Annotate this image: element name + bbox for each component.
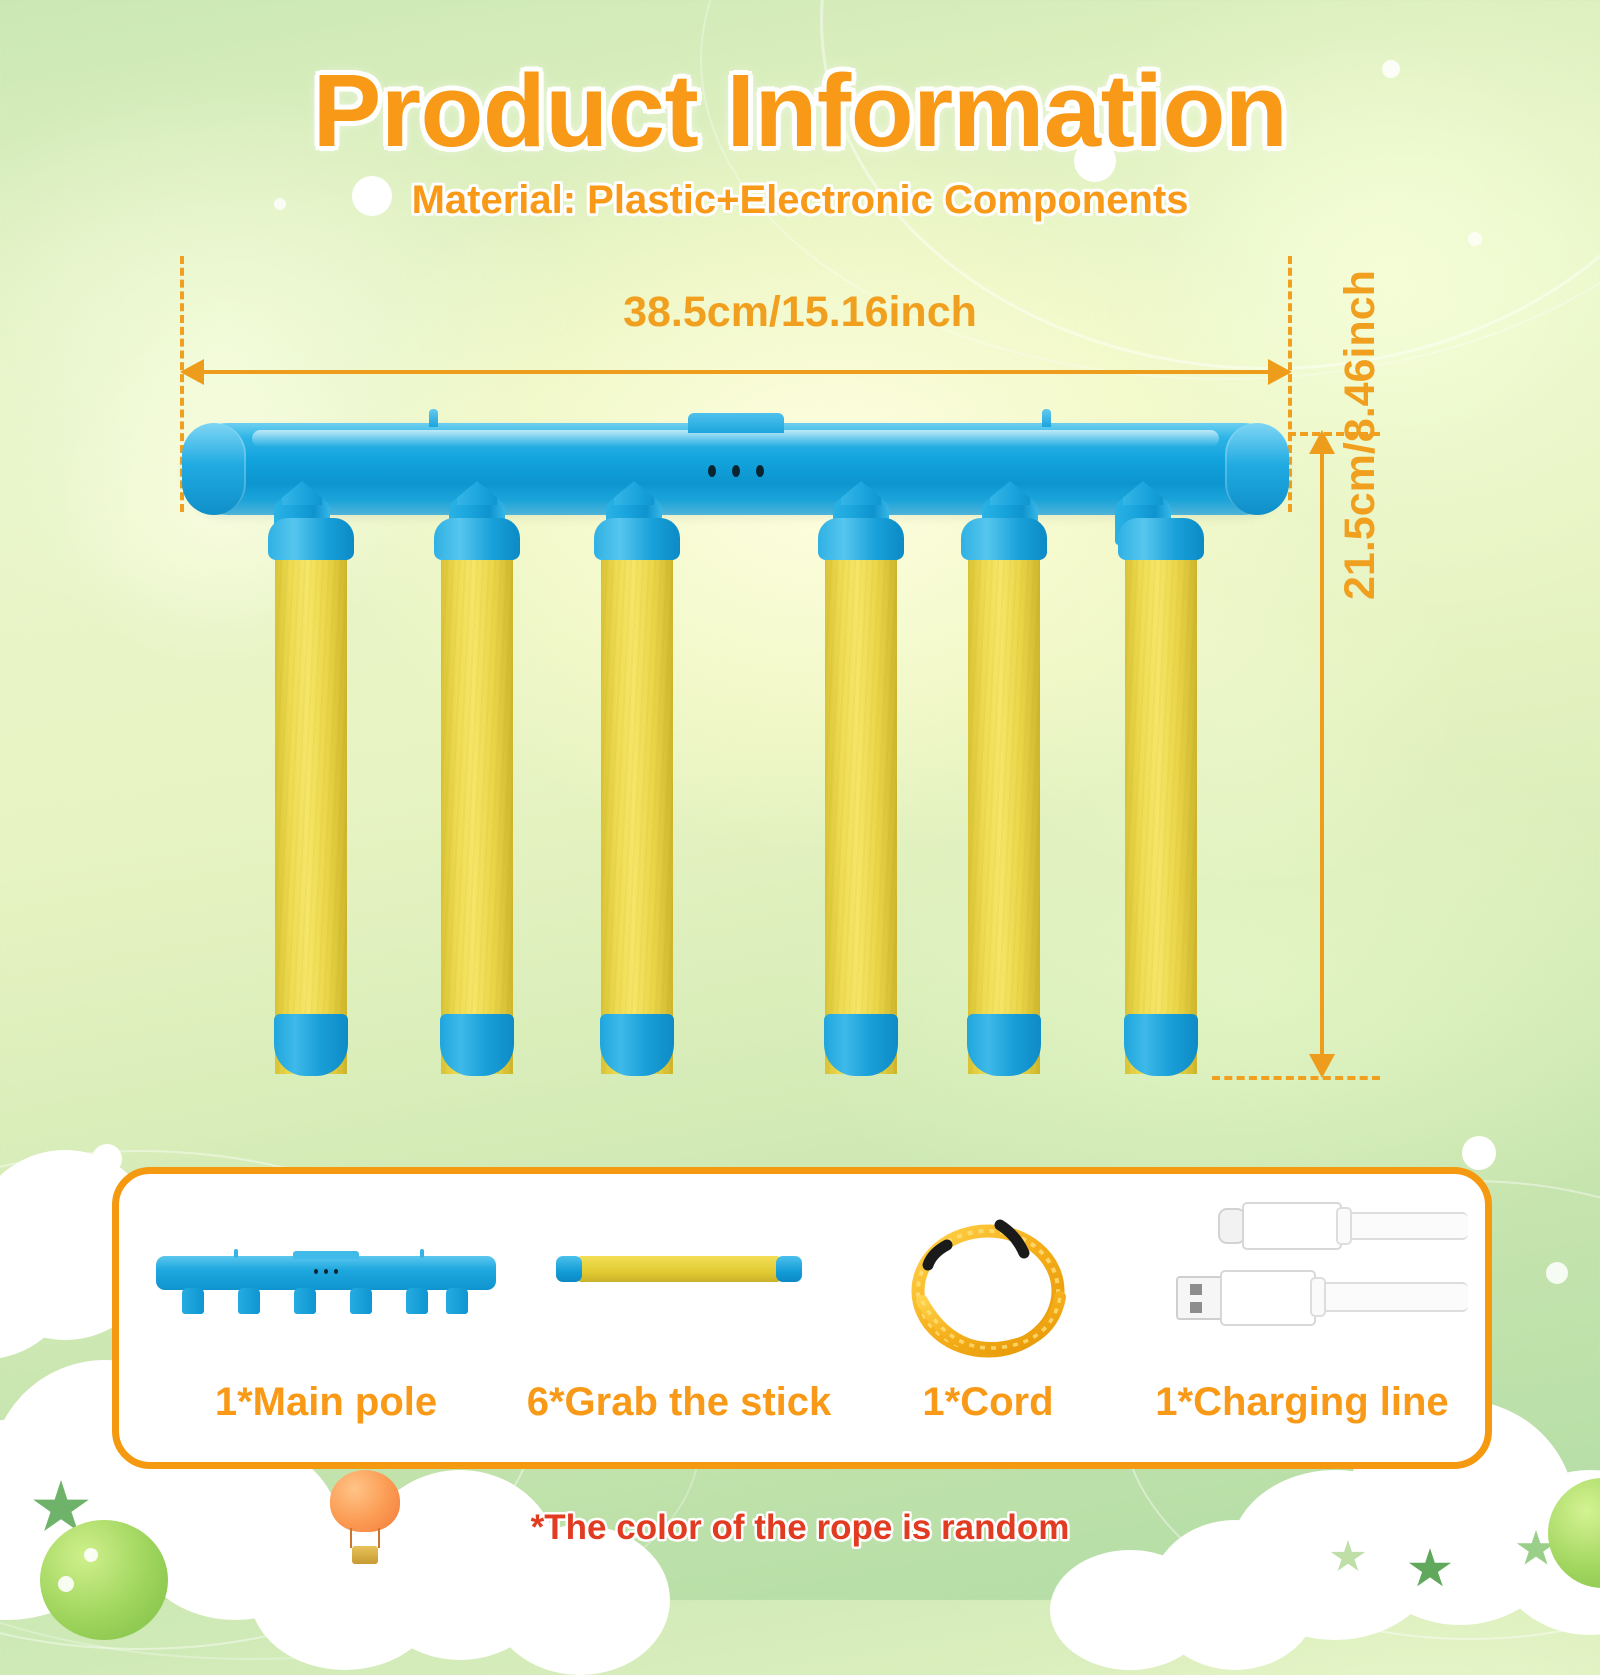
mini-pole-tab	[420, 1249, 424, 1258]
grab-stick-bottom-cap	[440, 1014, 514, 1076]
mini-pole-button	[293, 1251, 359, 1259]
grab-stick-foam	[1125, 546, 1197, 1074]
mini-indicator-dot	[314, 1269, 318, 1274]
pole-button-cover	[688, 413, 784, 433]
pole-tab	[429, 409, 438, 427]
mini-socket	[294, 1288, 316, 1314]
footnote-rope-color: *The color of the rope is random	[0, 1508, 1600, 1548]
indicator-dots	[708, 465, 764, 477]
grab-stick-bottom-cap	[824, 1014, 898, 1076]
mini-grab-stick	[556, 1256, 802, 1282]
star-icon	[1408, 1548, 1452, 1590]
green-ball-highlight	[58, 1576, 74, 1592]
cord-svg	[892, 1205, 1084, 1365]
bokeh-dot	[72, 1412, 98, 1438]
grab-stick-bottom-cap	[274, 1014, 348, 1076]
usb-a-pin	[1190, 1302, 1202, 1313]
accessory-label-grab-stick: 6*Grab the stick	[506, 1380, 852, 1425]
main-pole-icon	[156, 1256, 496, 1320]
grab-stick-foam	[825, 546, 897, 1074]
bokeh-dot	[24, 1318, 38, 1332]
grab-stick-icon	[556, 1256, 802, 1282]
mini-stick-cap-left	[556, 1256, 582, 1282]
accessory-label-main-pole: 1*Main pole	[156, 1380, 496, 1425]
green-ball-highlight	[84, 1548, 98, 1562]
indicator-dot	[756, 465, 764, 477]
mini-socket	[350, 1288, 372, 1314]
mini-stick-foam	[578, 1256, 780, 1282]
grab-stick-foam	[601, 546, 673, 1074]
grab-stick-top-cap	[818, 518, 904, 560]
usb-a-plug-body	[1220, 1270, 1316, 1326]
mini-socket	[182, 1288, 204, 1314]
grab-stick	[275, 546, 347, 1074]
usb-a-pin	[1190, 1284, 1202, 1295]
mini-indicator-dot	[334, 1269, 338, 1274]
grab-stick-top-cap	[1118, 518, 1204, 560]
grab-stick-bottom-cap	[1124, 1014, 1198, 1076]
material-subtitle: Material: Plastic+Electronic Components	[0, 178, 1600, 223]
height-dimension-label: 21.5cm/8.46inch	[1336, 270, 1385, 600]
height-arrow-up	[1309, 430, 1335, 454]
grab-stick-top-cap	[594, 518, 680, 560]
accessory-label-charging-line: 1*Charging line	[1122, 1380, 1482, 1425]
glow-blob	[980, 520, 1500, 880]
mini-socket	[238, 1288, 260, 1314]
grab-stick	[1125, 546, 1197, 1074]
accessory-label-cord: 1*Cord	[862, 1380, 1114, 1425]
cloud-shape	[250, 1470, 670, 1650]
usb-c-cable	[1338, 1212, 1468, 1240]
width-arrow-left	[180, 359, 204, 385]
usb-c-plug-body	[1242, 1202, 1342, 1250]
grab-stick-bottom-cap	[600, 1014, 674, 1076]
grab-stick-top-cap	[961, 518, 1047, 560]
page-title: Product Information	[0, 52, 1600, 170]
grab-stick-foam	[275, 546, 347, 1074]
height-dimension-line	[1320, 448, 1324, 1060]
width-arrow-right	[1268, 359, 1292, 385]
width-dimension-line	[198, 370, 1274, 374]
main-pole-body	[182, 423, 1289, 515]
bokeh-dot	[92, 1144, 122, 1174]
bokeh-dot	[1468, 232, 1482, 246]
grab-stick	[968, 546, 1040, 1074]
grab-stick-foam	[441, 546, 513, 1074]
mini-indicator-dot	[324, 1269, 328, 1274]
grab-stick	[825, 546, 897, 1074]
grab-stick-top-cap	[268, 518, 354, 560]
charging-line-icon	[1168, 1200, 1468, 1340]
mini-socket	[406, 1288, 428, 1314]
pole-end-right	[1225, 423, 1289, 515]
mini-socket	[446, 1288, 468, 1314]
guide-line-bottom	[1212, 1076, 1380, 1080]
grab-stick	[601, 546, 673, 1074]
usb-a-cable-collar	[1310, 1277, 1326, 1317]
indicator-dot	[732, 465, 740, 477]
grab-stick-foam	[968, 546, 1040, 1074]
usb-a-connector	[1176, 1276, 1224, 1320]
cord-icon	[892, 1205, 1084, 1365]
indicator-dot	[708, 465, 716, 477]
pole-tab	[1042, 409, 1051, 427]
mini-pole-tab	[234, 1249, 238, 1258]
pole-end-left	[182, 423, 246, 515]
bokeh-dot	[1462, 1136, 1496, 1170]
usb-a-cable	[1312, 1282, 1468, 1312]
grab-stick-bottom-cap	[967, 1014, 1041, 1076]
bokeh-dot	[1546, 1262, 1568, 1284]
mini-indicator-dots	[314, 1269, 338, 1274]
grab-stick-top-cap	[434, 518, 520, 560]
grab-stick	[441, 546, 513, 1074]
mini-pole-bar	[156, 1256, 496, 1290]
height-arrow-down	[1309, 1054, 1335, 1078]
usb-c-cable-collar	[1336, 1207, 1352, 1245]
mini-stick-cap-right	[776, 1256, 802, 1282]
